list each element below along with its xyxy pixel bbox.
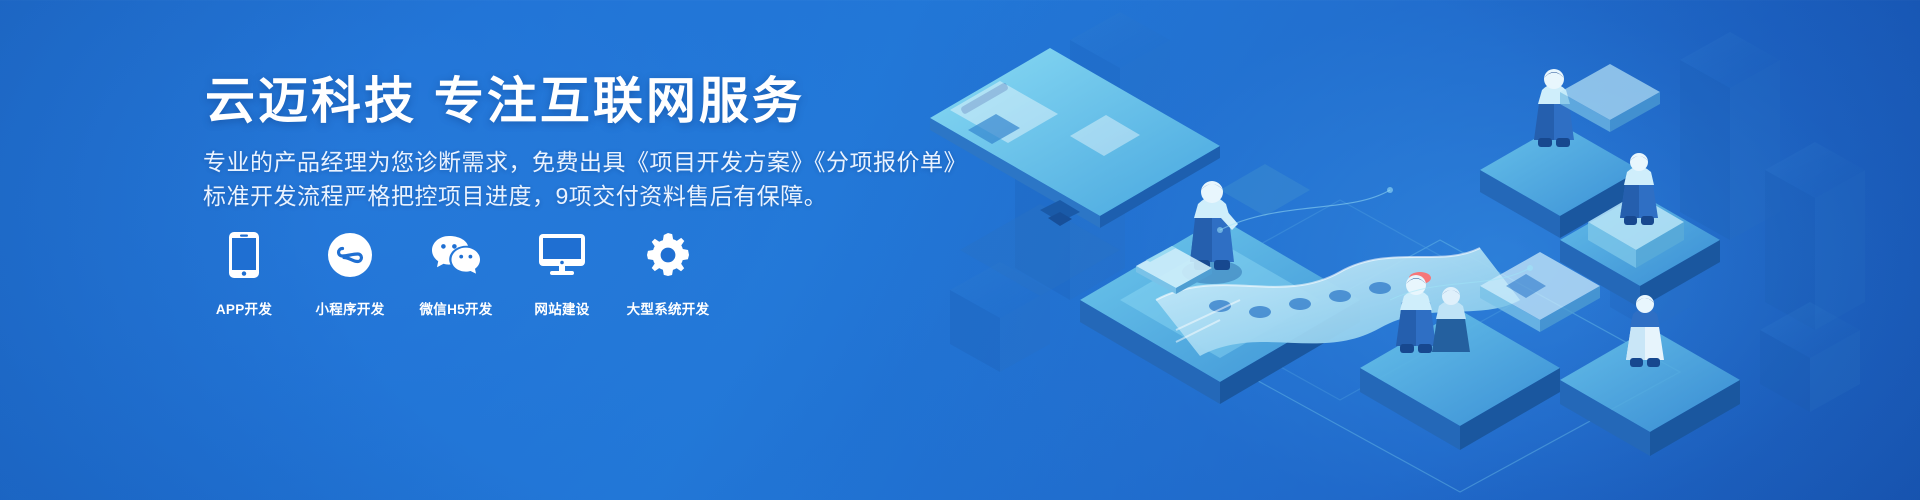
monitor-icon — [539, 232, 585, 278]
service-item-large-system[interactable]: 大型系统开发 — [629, 232, 707, 318]
wechat-icon — [431, 232, 481, 278]
service-label: APP开发 — [216, 298, 272, 318]
service-label: 大型系统开发 — [627, 298, 710, 318]
service-list: APP开发 小程序开发 微信 — [205, 232, 707, 318]
mini-program-icon — [328, 232, 372, 278]
service-item-wechat-h5[interactable]: 微信H5开发 — [417, 232, 495, 318]
service-label: 网站建设 — [534, 298, 589, 318]
service-item-miniprogram[interactable]: 小程序开发 — [311, 232, 389, 318]
hero-illustration — [920, 0, 1920, 500]
page-title: 云迈科技 专注互联网服务 — [205, 70, 805, 133]
mobile-phone-icon — [229, 232, 259, 278]
gear-icon — [646, 232, 690, 278]
service-item-website[interactable]: 网站建设 — [523, 232, 601, 318]
hero-content: 云迈科技 专注互联网服务 专业的产品经理为您诊断需求，免费出具《项目开发方案》《… — [0, 0, 960, 500]
subtitle-line-1: 专业的产品经理为您诊断需求，免费出具《项目开发方案》《分项报价单》 — [203, 146, 967, 178]
service-item-app[interactable]: APP开发 — [205, 232, 283, 318]
service-label: 小程序开发 — [316, 298, 385, 318]
subtitle-line-2: 标准开发流程严格把控项目进度，9项交付资料售后有保障。 — [203, 180, 967, 212]
subtitle-block: 专业的产品经理为您诊断需求，免费出具《项目开发方案》《分项报价单》 标准开发流程… — [203, 146, 967, 214]
service-label: 微信H5开发 — [419, 298, 492, 318]
